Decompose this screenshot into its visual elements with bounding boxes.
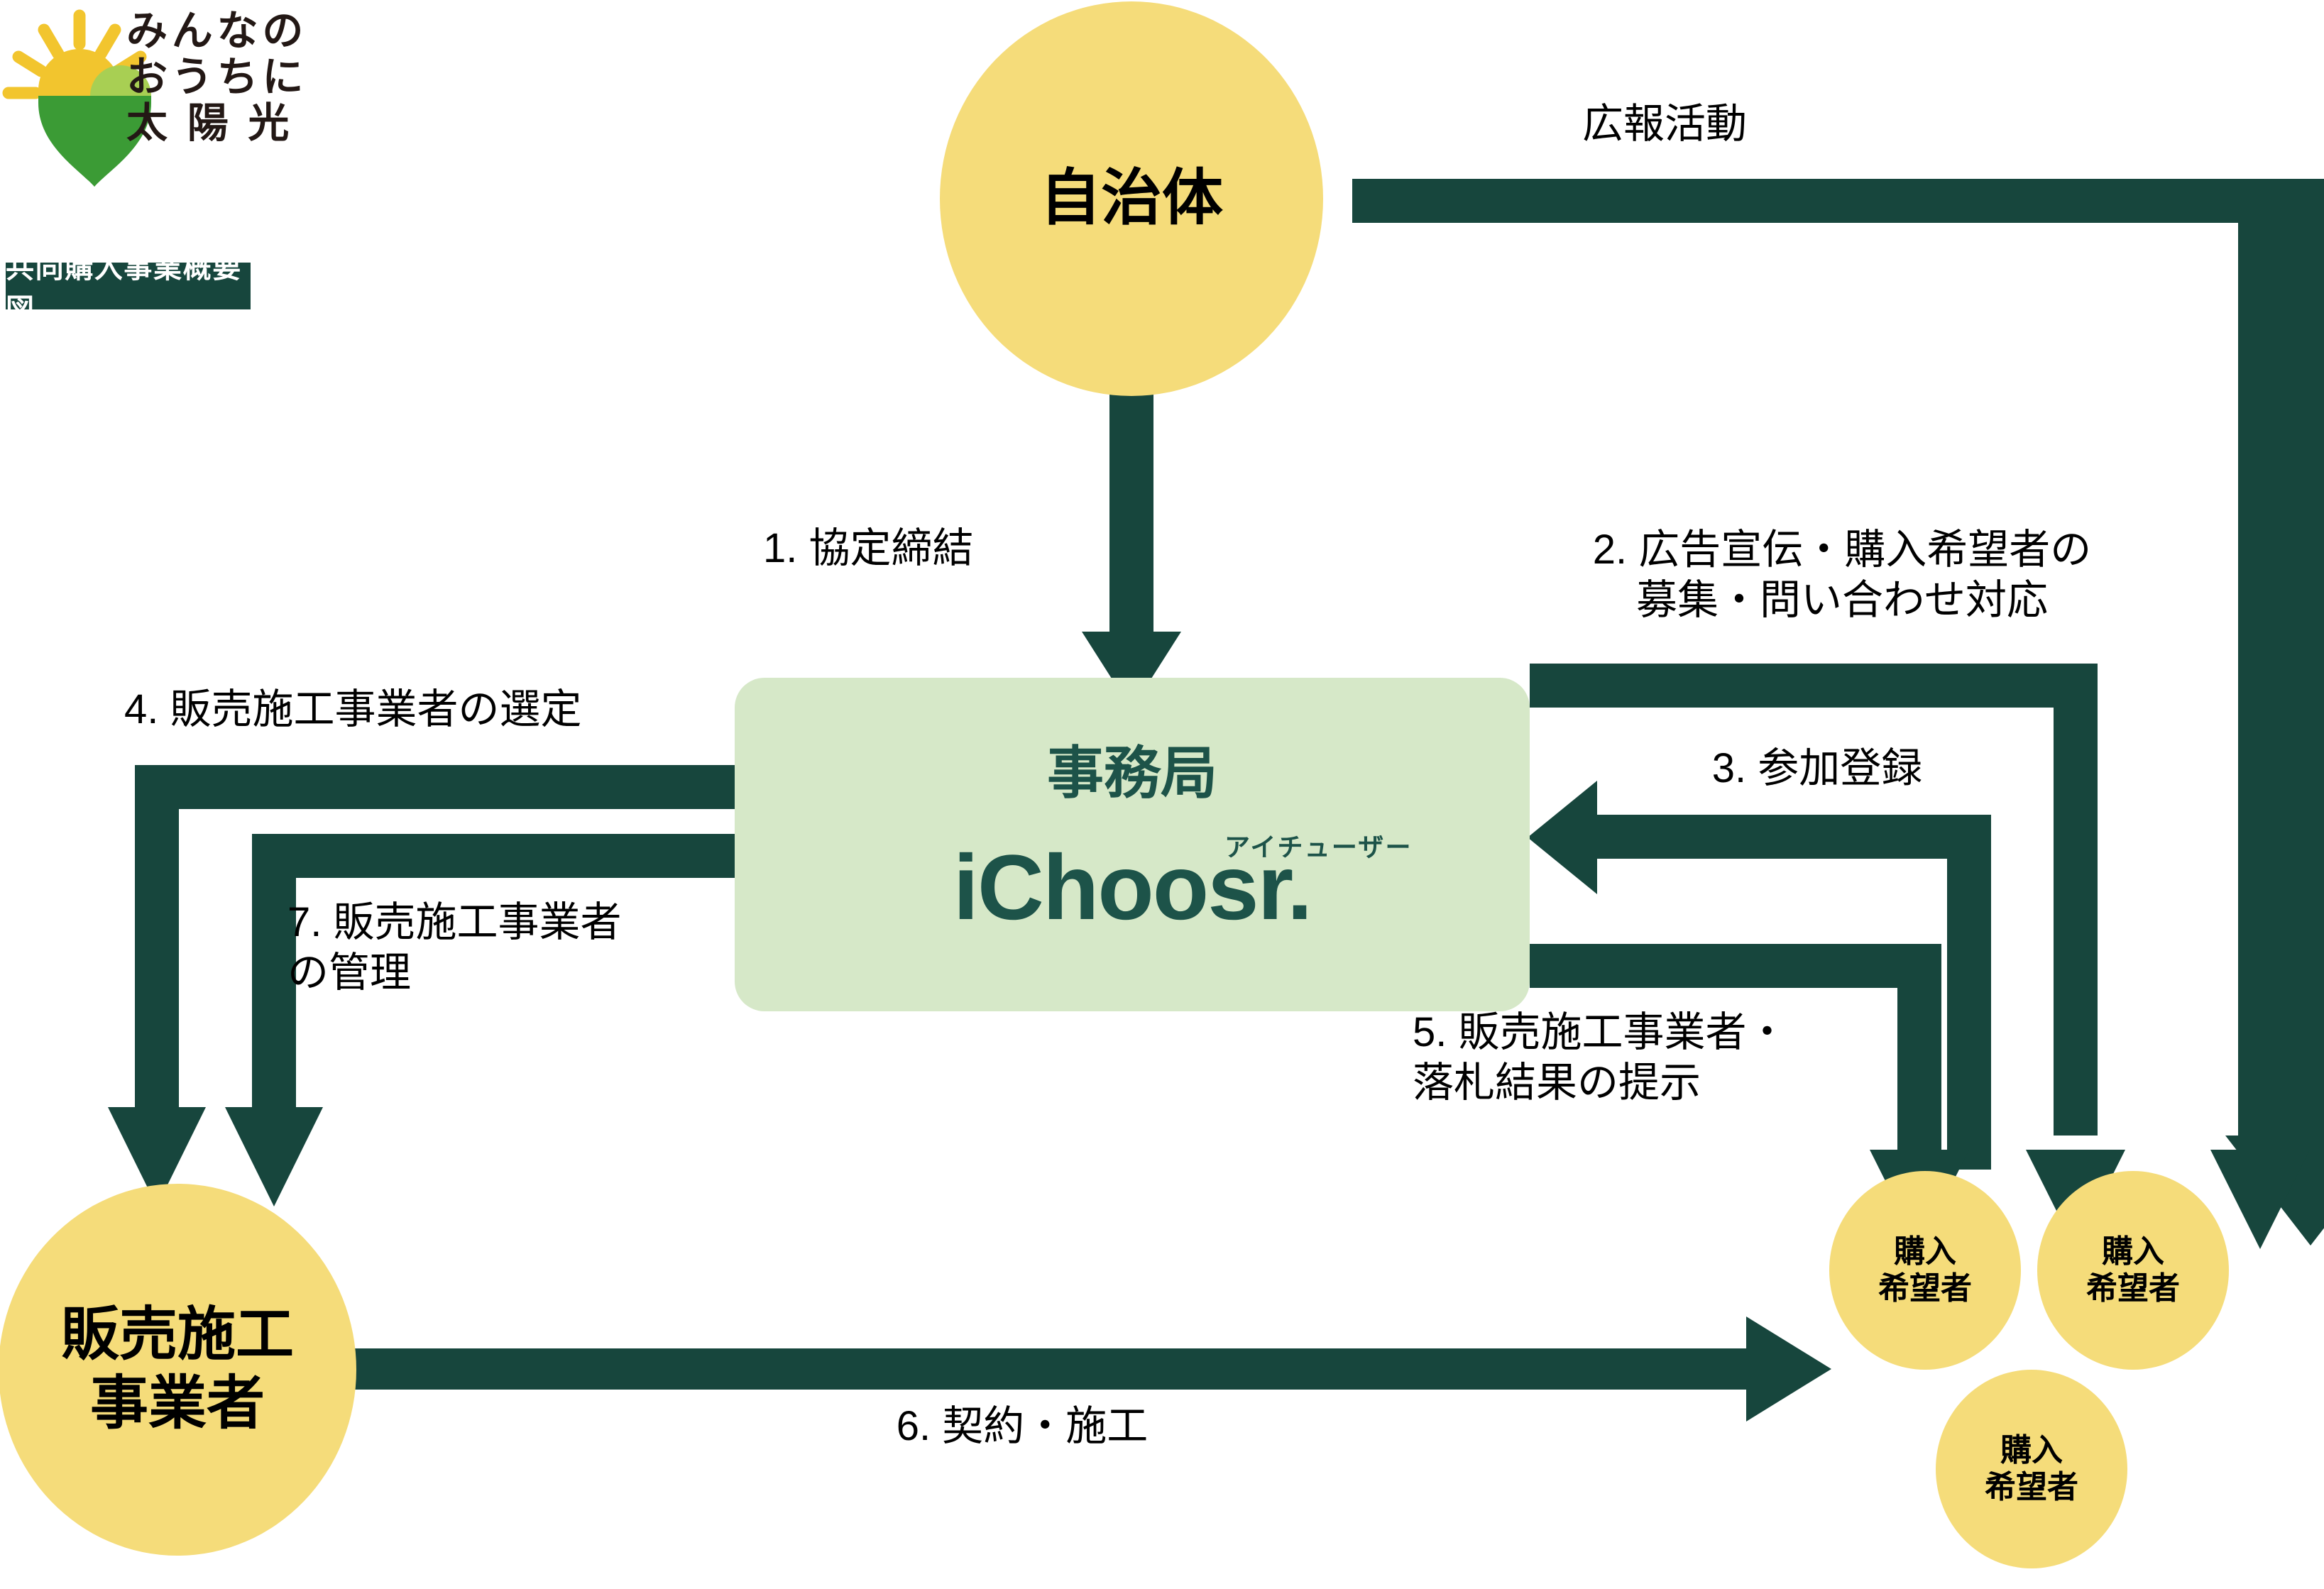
logo-line-3: 太 陽 光 — [126, 101, 307, 147]
node-installer-label: 販売施工 事業者 — [7, 1277, 348, 1462]
flow-label-management: 7. 販売施工事業者 の管理 — [287, 898, 742, 999]
flow-label-advertising: 2. 広告宣伝・購入希望者の 募集・問い合わせ対応 — [1523, 525, 2161, 626]
buyer-2-line-1: 購入 — [2102, 1233, 2164, 1270]
flow-label-pr: 広報活動 — [1427, 99, 1902, 150]
buyer-1-line-2: 希望者 — [1878, 1270, 1972, 1307]
secretariat-furigana: アイチューザー — [1224, 827, 1413, 864]
flow-label-agreement: 1. 協定締結 — [763, 524, 1097, 574]
diagram-title-badge: 共同購入事業概要図 — [6, 263, 251, 309]
flow-label-bid-result: 5. 販売施工事業者・ 落札結果の提示 — [1413, 1008, 1966, 1109]
buyer-3-line-1: 購入 — [2000, 1432, 2063, 1469]
diagram-title-label: 共同購入事業概要図 — [6, 245, 251, 327]
buyer-3-line-2: 希望者 — [1985, 1469, 2078, 1506]
flow-label-selection: 4. 販売施工事業者の選定 — [124, 685, 749, 735]
node-municipality-label: 自治体 — [940, 135, 1323, 263]
buyer-2-line-2: 希望者 — [2086, 1270, 2180, 1307]
buyer-1-line-1: 購入 — [1894, 1233, 1956, 1270]
logo-line-2: おうちに — [126, 55, 307, 101]
node-buyer-1-label: 購入 希望者 — [1829, 1217, 2021, 1324]
node-secretariat-content: 事務局 iChoosr. アイチューザー — [735, 678, 1530, 1011]
logo-line-1: みんなの — [126, 9, 307, 55]
node-buyer-3-label: 購入 希望者 — [1936, 1416, 2127, 1522]
secretariat-title: 事務局 — [735, 727, 1530, 810]
installer-line-1: 販売施工 — [61, 1301, 294, 1370]
flow-label-contract: 6. 契約・施工 — [752, 1402, 1292, 1452]
logo-wordmark: みんなの おうちに 太 陽 光 — [126, 9, 307, 147]
diagram-canvas: みんなの おうちに 太 陽 光 共同購入事業概要図 自治体 事務局 iChoos… — [0, 0, 2324, 1589]
installer-line-2: 事業者 — [90, 1370, 265, 1439]
municipality-text: 自治体 — [1040, 163, 1223, 234]
node-buyer-2-label: 購入 希望者 — [2037, 1217, 2229, 1324]
flow-label-registration: 3. 参加登録 — [1647, 744, 1988, 794]
flow-arrow-management — [225, 834, 735, 1206]
